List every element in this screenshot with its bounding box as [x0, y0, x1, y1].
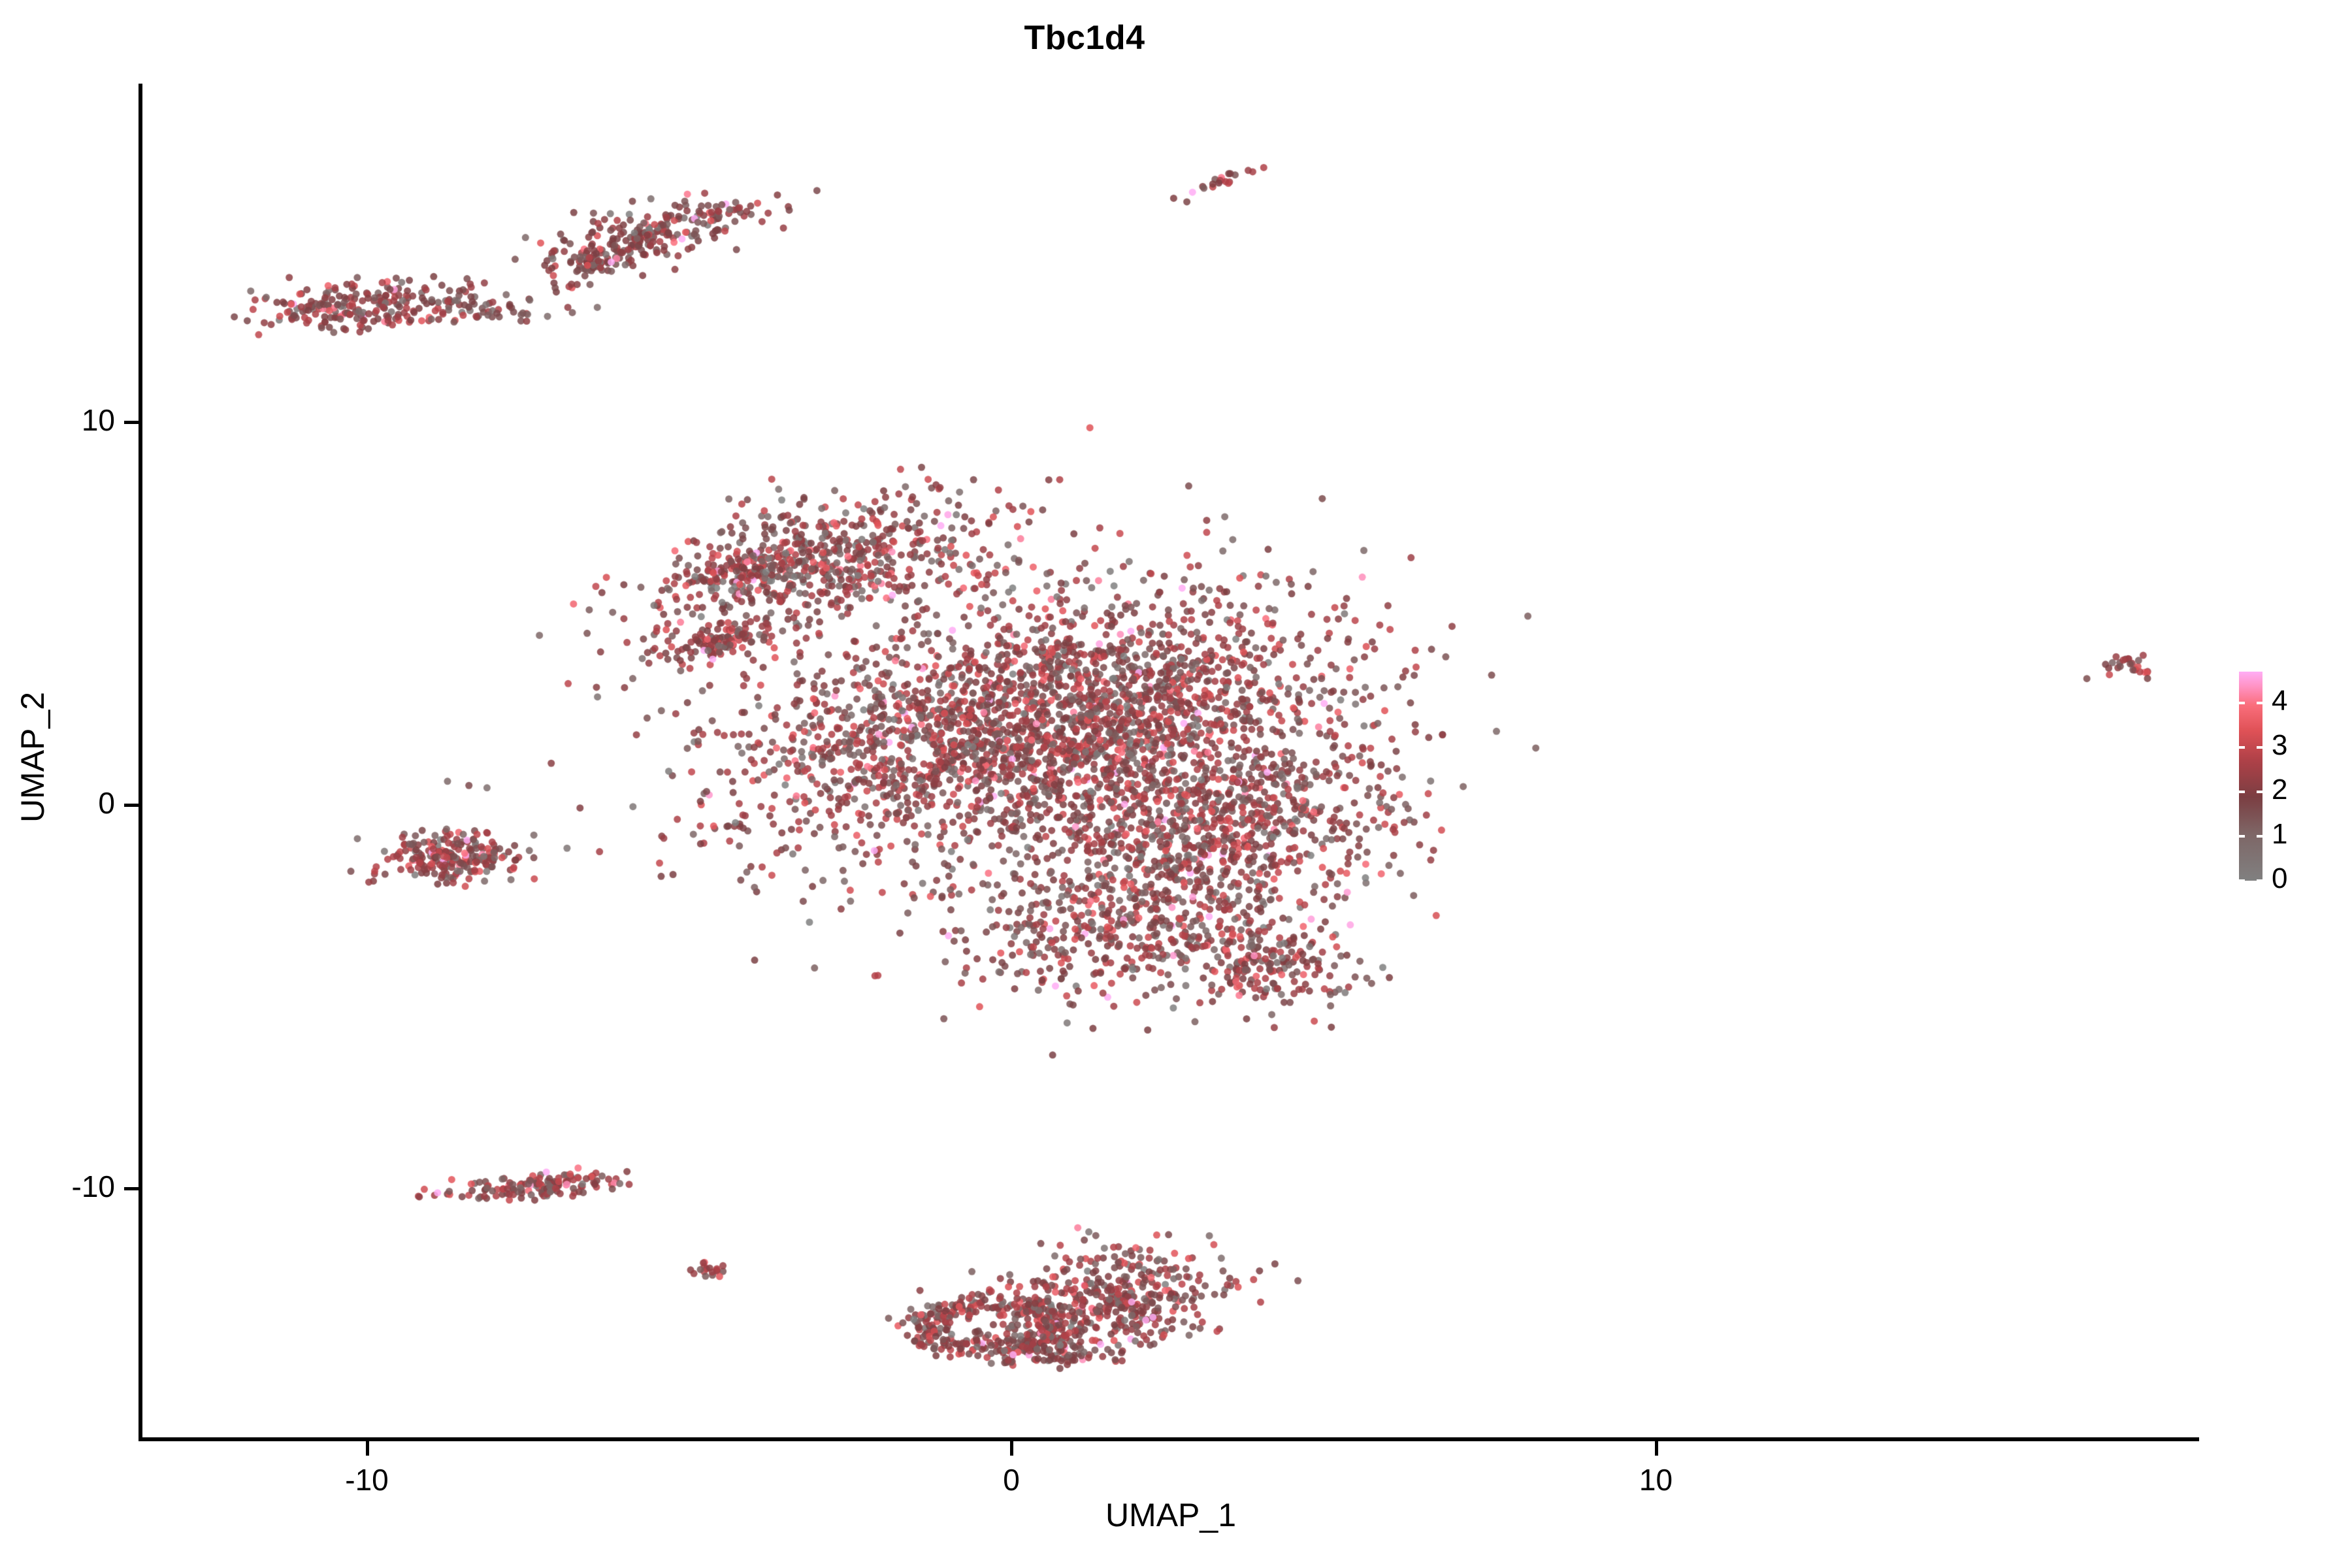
page-title: Tbc1d4 [0, 18, 2169, 57]
x-tick-label-10: 10 [1591, 1462, 1722, 1497]
plot-panel [142, 84, 2199, 1439]
colorbar-tick-3-left [2239, 746, 2245, 749]
x-tick-label-0: 0 [946, 1462, 1077, 1497]
x-tick--10 [366, 1441, 369, 1456]
x-tick-10 [1655, 1441, 1658, 1456]
x-tick-0 [1010, 1441, 1013, 1456]
scatter-points-canvas [142, 84, 2199, 1439]
y-tick-0 [124, 804, 139, 807]
colorbar-tick-0-right [2257, 879, 2262, 882]
colorbar-tick-2-right [2257, 791, 2262, 793]
colorbar-tick-4-left [2239, 702, 2245, 704]
y-tick--10 [124, 1187, 139, 1190]
colorbar-tick-4-right [2257, 702, 2262, 704]
y-tick-label--10: -10 [0, 1169, 115, 1204]
colorbar-tick-3-right [2257, 746, 2262, 749]
y-axis-line [139, 84, 142, 1441]
x-axis-line [142, 1437, 2199, 1441]
colorbar-tick-0-left [2239, 879, 2245, 882]
colorbar-label-1: 1 [2272, 818, 2287, 851]
colorbar-label-0: 0 [2272, 862, 2287, 895]
colorbar-tick-1-left [2239, 835, 2245, 838]
y-tick-10 [124, 421, 139, 424]
y-tick-label-10: 10 [0, 402, 115, 438]
x-tick-label--10: -10 [302, 1462, 433, 1497]
colorbar-label-3: 3 [2272, 729, 2287, 762]
colorbar-tick-1-right [2257, 835, 2262, 838]
colorbar-legend[interactable] [2239, 672, 2262, 881]
colorbar-label-2: 2 [2272, 774, 2287, 806]
colorbar-label-4: 4 [2272, 685, 2287, 717]
colorbar-tick-2-left [2239, 791, 2245, 793]
x-axis-title: UMAP_1 [142, 1496, 2199, 1534]
umap-feature-plot: Tbc1d4 -10010 -10010 UMAP_1 UMAP_2 01234 [0, 0, 2352, 1568]
y-axis-title: UMAP_2 [14, 529, 52, 986]
